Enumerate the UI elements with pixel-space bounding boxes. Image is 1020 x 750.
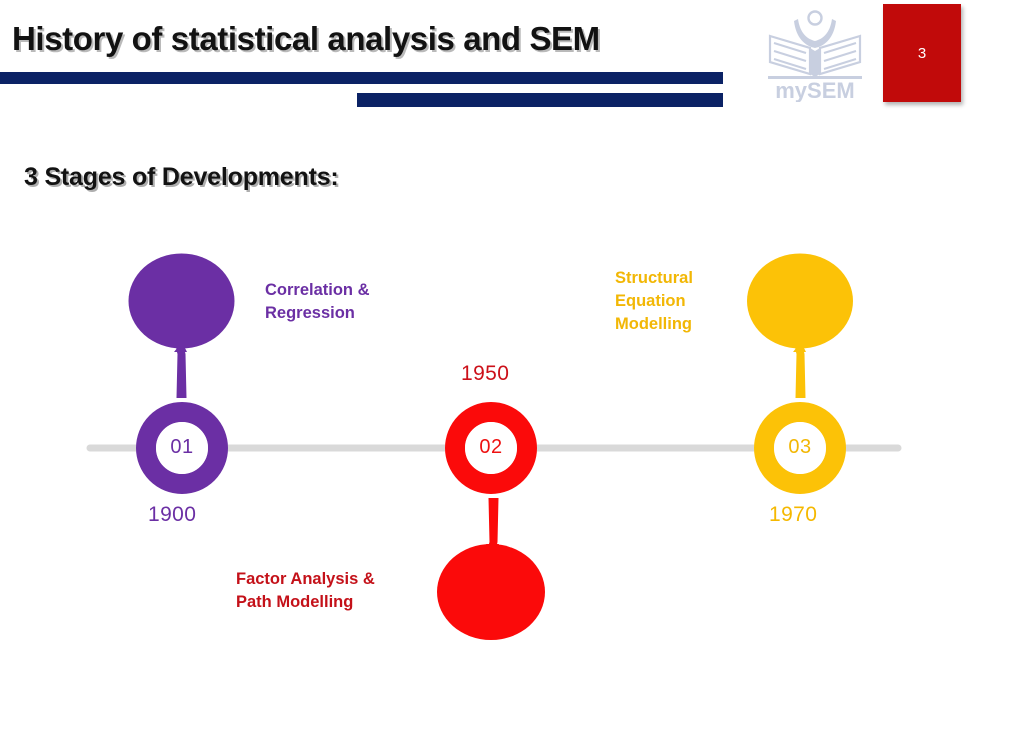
stage-label-01: Correlation & Regression bbox=[265, 279, 370, 325]
stage-label-03: Structural Equation Modelling bbox=[615, 267, 693, 335]
stage-number-03: 03 bbox=[754, 436, 846, 459]
stage-year-03: 1970 bbox=[769, 503, 817, 527]
timeline-diagram: Correlation & Regression 01 1900 Factor … bbox=[0, 0, 1020, 750]
stage-number-01: 01 bbox=[136, 436, 228, 459]
stage-year-01: 1900 bbox=[148, 503, 196, 527]
slide-canvas: History of statistical analysis and SEM bbox=[0, 0, 1020, 750]
stage-year-02: 1950 bbox=[461, 362, 509, 386]
stage-number-02: 02 bbox=[445, 436, 537, 459]
stage-label-02: Factor Analysis & Path Modelling bbox=[236, 568, 375, 614]
